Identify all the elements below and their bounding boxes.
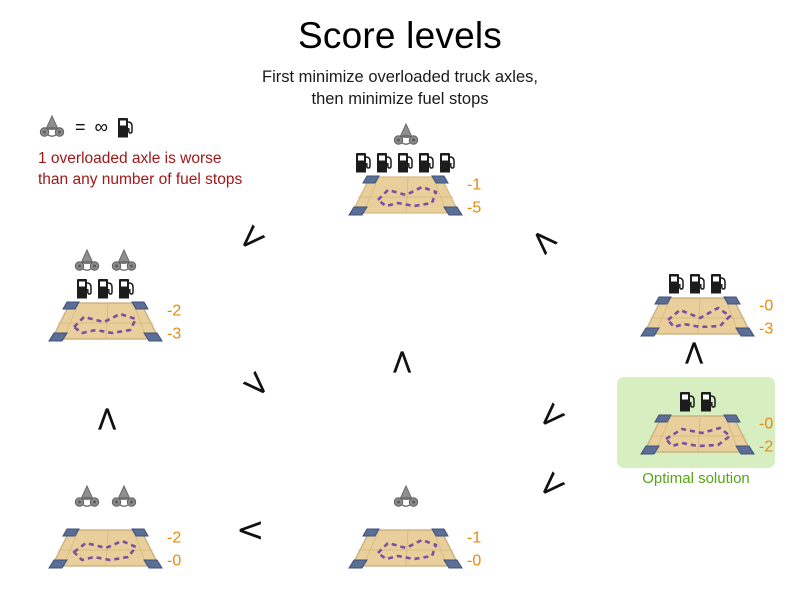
comparison-operator-bottom-center: < — [236, 513, 265, 547]
solution-node-optimal[interactable]: -0 -2 — [640, 390, 755, 460]
fuel-pump-icon — [118, 277, 135, 299]
penalty-icons — [355, 122, 456, 173]
overloaded-axle-icon — [110, 248, 138, 274]
comparison-operator-top-right: < — [522, 219, 566, 263]
comparison-operator-mid-left: < — [234, 363, 278, 407]
fuel-pump-icon — [439, 151, 456, 173]
page-title: Score levels — [0, 14, 800, 58]
penalty-icons — [73, 484, 138, 510]
route-map-icon — [348, 526, 463, 574]
penalty-icons — [668, 272, 727, 294]
route-map-icon — [640, 412, 755, 460]
fuel-pump-icon — [397, 151, 414, 173]
fuel-pump-icon — [668, 272, 685, 294]
soft-score: -0 — [167, 554, 181, 570]
legend-infinity-sign: ∞ — [95, 118, 109, 137]
penalty-icons — [392, 484, 420, 510]
penalty-icons — [679, 390, 717, 412]
fuel-pump-icon — [117, 116, 134, 138]
axle-icon-row — [73, 248, 138, 274]
comparison-operator-mid-right: < — [529, 394, 573, 438]
solution-node-bottom-center[interactable]: -1 -0 — [348, 484, 463, 574]
fuel-pump-icon — [689, 272, 706, 294]
route-map-icon — [348, 173, 463, 221]
hard-score: -1 — [467, 531, 481, 547]
legend-note-line-2: than any number of fuel stops — [38, 169, 242, 190]
legend-note-line-1: 1 overloaded axle is worse — [38, 148, 242, 169]
comparison-operator-center: < — [385, 348, 419, 377]
overloaded-axle-icon — [38, 114, 66, 140]
score-values: -1 -5 — [467, 178, 481, 217]
score-values: -0 -2 — [759, 417, 773, 456]
subtitle-line-2: then minimize fuel stops — [0, 88, 800, 110]
fuel-pump-icon-row — [668, 272, 727, 294]
legend-equals-sign: = — [75, 118, 86, 136]
axle-icon-row — [392, 484, 420, 510]
fuel-pump-icon — [700, 390, 717, 412]
page-subtitle: First minimize overloaded truck axles, t… — [0, 66, 800, 110]
soft-score: -3 — [167, 327, 181, 343]
fuel-pump-icon — [97, 277, 114, 299]
score-levels-diagram: Score levels First minimize overloaded t… — [0, 0, 800, 600]
comparison-operator-bottom-right: < — [529, 463, 573, 507]
subtitle-line-1: First minimize overloaded truck axles, — [0, 66, 800, 88]
overloaded-axle-icon — [392, 122, 420, 148]
legend-note: 1 overloaded axle is worse than any numb… — [38, 148, 242, 190]
fuel-pump-icon — [418, 151, 435, 173]
solution-node-bottom-left[interactable]: -2 -0 — [48, 484, 163, 574]
score-values: -0 -3 — [759, 299, 773, 338]
fuel-pump-icon-row — [76, 277, 135, 299]
comparison-operator-left-up: < — [90, 405, 124, 434]
overloaded-axle-icon — [73, 248, 101, 274]
fuel-pump-icon — [76, 277, 93, 299]
route-map-icon — [48, 299, 163, 347]
hard-score: -0 — [759, 417, 773, 433]
route-map-icon — [48, 526, 163, 574]
score-values: -2 -0 — [167, 531, 181, 570]
score-values: -2 -3 — [167, 304, 181, 343]
fuel-pump-icon — [679, 390, 696, 412]
hard-score: -1 — [467, 178, 481, 194]
route-map-icon — [640, 294, 755, 342]
overloaded-axle-icon — [73, 484, 101, 510]
fuel-pump-icon — [376, 151, 393, 173]
hard-score: -2 — [167, 304, 181, 320]
solution-node-top[interactable]: -1 -5 — [348, 122, 463, 221]
soft-score: -2 — [759, 440, 773, 456]
overloaded-axle-icon — [110, 484, 138, 510]
legend-equivalence: = ∞ — [38, 114, 134, 140]
fuel-pump-icon — [355, 151, 372, 173]
axle-icon-row — [73, 484, 138, 510]
fuel-pump-icon-row — [679, 390, 717, 412]
comparison-operator-top-left: < — [229, 216, 273, 260]
comparison-operator-right-up: < — [677, 339, 711, 368]
solution-node-right[interactable]: -0 -3 — [640, 272, 755, 342]
axle-icon-row — [392, 122, 420, 148]
overloaded-axle-icon — [392, 484, 420, 510]
fuel-pump-icon-row — [355, 151, 456, 173]
hard-score: -0 — [759, 299, 773, 315]
soft-score: -0 — [467, 554, 481, 570]
solution-node-left[interactable]: -2 -3 — [48, 248, 163, 347]
penalty-icons — [73, 248, 138, 299]
optimal-solution-label: Optimal solution — [617, 470, 775, 488]
fuel-pump-icon — [710, 272, 727, 294]
score-values: -1 -0 — [467, 531, 481, 570]
hard-score: -2 — [167, 531, 181, 547]
soft-score: -3 — [759, 322, 773, 338]
soft-score: -5 — [467, 201, 481, 217]
